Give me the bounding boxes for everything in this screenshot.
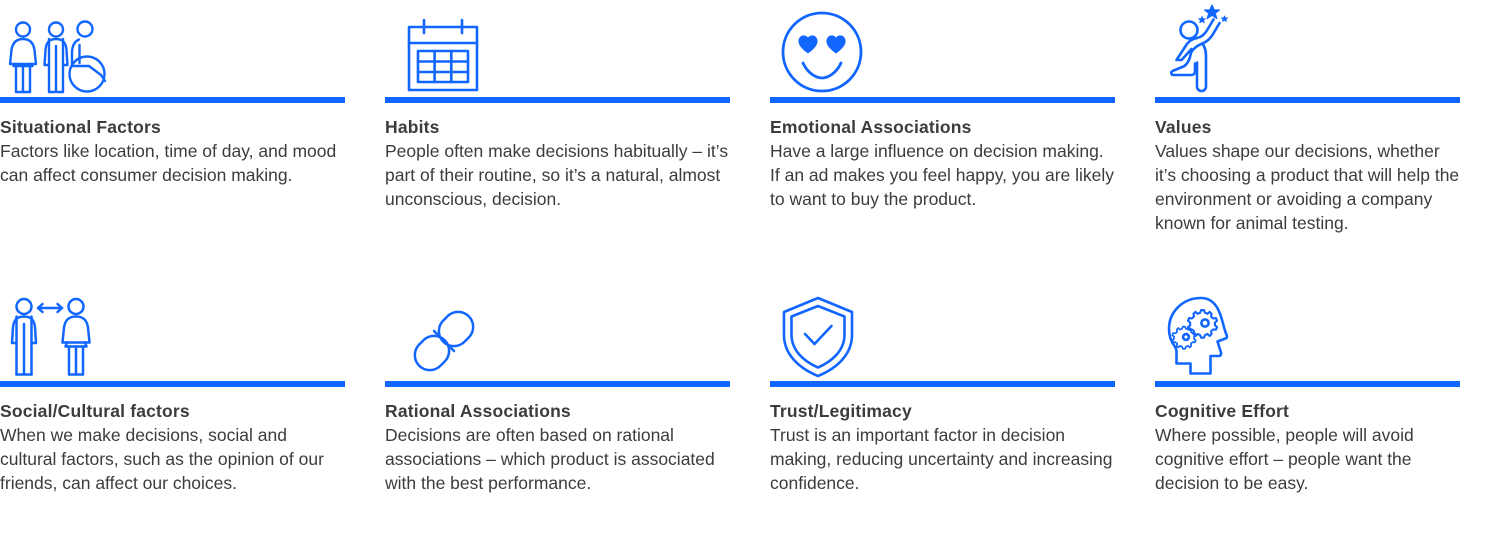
accent-rule [0,97,345,103]
head-gears-icon [1155,280,1460,380]
card-body: Values shape our decisions, whether it’s… [1155,139,1460,235]
card-title: Trust/Legitimacy [770,399,1115,423]
accent-rule [1155,97,1460,103]
card-emotional-associations: Emotional Associations Have a large infl… [770,0,1155,280]
card-social-cultural-factors: Social/Cultural factors When we make dec… [0,280,385,539]
card-body: Factors like location, time of day, and … [0,139,345,187]
accent-rule [1155,381,1460,387]
card-title: Social/Cultural factors [0,399,345,423]
chain-link-icon [385,280,730,380]
card-title: Habits [385,115,730,139]
accent-rule [385,381,730,387]
card-body: People often make decisions habitually –… [385,139,730,211]
card-title: Situational Factors [0,115,345,139]
calendar-icon [385,0,730,96]
card-title: Values [1155,115,1460,139]
person-reaching-star-icon [1155,0,1460,96]
card-body: Where possible, people will avoid cognit… [1155,423,1460,495]
card-rational-associations: Rational Associations Decisions are ofte… [385,280,770,539]
card-situational-factors: Situational Factors Factors like locatio… [0,0,385,280]
two-people-arrow-icon [0,280,345,380]
shield-check-icon [770,280,1115,380]
accent-rule [0,381,345,387]
card-grid: Situational Factors Factors like locatio… [0,0,1500,539]
card-title: Emotional Associations [770,115,1115,139]
people-group-accessibility-icon [0,0,345,96]
accent-rule [770,97,1115,103]
infographic-board: Situational Factors Factors like locatio… [0,0,1500,539]
card-body: When we make decisions, social and cultu… [0,423,345,495]
accent-rule [385,97,730,103]
card-values: Values Values shape our decisions, wheth… [1155,0,1500,280]
card-body: Trust is an important factor in decision… [770,423,1115,495]
smiley-heart-eyes-icon [770,0,1115,96]
card-habits: Habits People often make decisions habit… [385,0,770,280]
card-trust-legitimacy: Trust/Legitimacy Trust is an important f… [770,280,1155,539]
card-title: Cognitive Effort [1155,399,1460,423]
card-title: Rational Associations [385,399,730,423]
card-body: Have a large influence on decision makin… [770,139,1115,211]
card-body: Decisions are often based on rational as… [385,423,730,495]
card-cognitive-effort: Cognitive Effort Where possible, people … [1155,280,1500,539]
accent-rule [770,381,1115,387]
